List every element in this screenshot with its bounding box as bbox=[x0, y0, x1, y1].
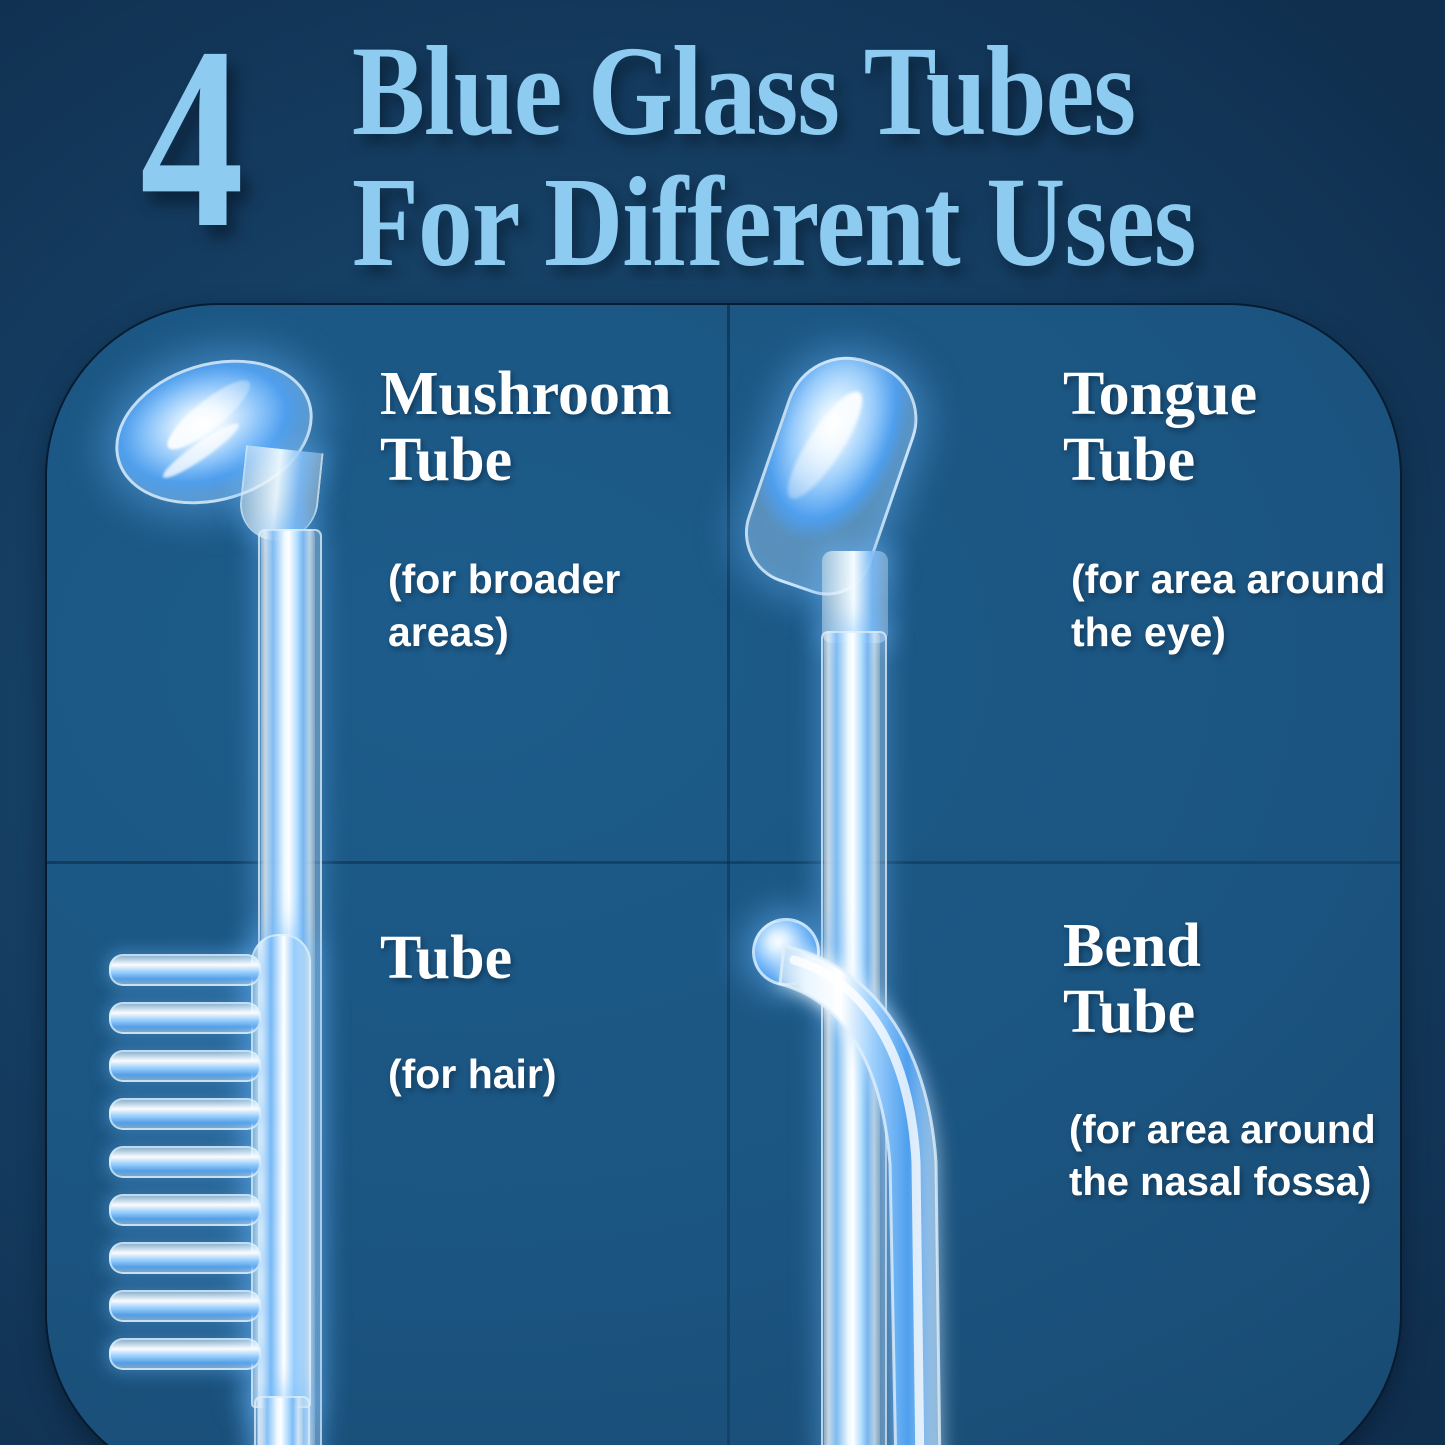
tongue-neck bbox=[822, 551, 888, 643]
comb-stem-glass bbox=[254, 1396, 310, 1445]
comb-tooth bbox=[109, 1338, 261, 1370]
tongue-subtitle: (for area around the eye) bbox=[1071, 553, 1385, 658]
bend-tube-body bbox=[750, 912, 990, 1445]
comb-tooth bbox=[109, 1050, 261, 1082]
comb-tooth bbox=[109, 1146, 261, 1178]
comb-text-block: Tube (for hair) bbox=[380, 926, 557, 1100]
comb-spine bbox=[251, 934, 311, 1408]
quadrant-comb: Tube (for hair) bbox=[47, 864, 723, 1420]
mushroom-heading: Mushroom Tube bbox=[380, 362, 672, 493]
tongue-heading: Tongue Tube bbox=[1063, 362, 1385, 493]
title-text: Blue Glass Tubes For Different Uses bbox=[352, 26, 1362, 287]
comb-tooth bbox=[109, 1242, 261, 1274]
bend-subtitle: (for area around the nasal fossa) bbox=[1069, 1105, 1376, 1207]
comb-tube-icon bbox=[99, 926, 329, 1445]
bend-text-block: Bend Tube (for area around the nasal fos… bbox=[1063, 914, 1376, 1208]
page-title: 4 Blue Glass Tubes For Different Uses bbox=[0, 0, 1445, 285]
comb-tooth bbox=[109, 1002, 261, 1034]
comb-heading: Tube bbox=[380, 926, 557, 992]
quadrant-bend: Bend Tube (for area around the nasal fos… bbox=[730, 864, 1400, 1420]
tongue-text-block: Tongue Tube (for area around the eye) bbox=[1063, 362, 1385, 658]
tongue-gloss bbox=[776, 383, 873, 507]
tube-grid-card: Mushroom Tube (for broader areas) Tongue… bbox=[47, 305, 1400, 1445]
comb-tooth bbox=[109, 1098, 261, 1130]
mushroom-subtitle: (for broader areas) bbox=[388, 553, 672, 658]
bend-heading: Bend Tube bbox=[1063, 914, 1376, 1045]
bend-tube-icon bbox=[750, 912, 990, 1445]
comb-subtitle: (for hair) bbox=[388, 1048, 557, 1100]
comb-tooth bbox=[109, 1290, 261, 1322]
comb-tooth bbox=[109, 954, 261, 986]
comb-tooth bbox=[109, 1194, 261, 1226]
quadrant-tongue: Tongue Tube (for area around the eye) bbox=[730, 305, 1400, 861]
infographic-root: 4 Blue Glass Tubes For Different Uses Mu… bbox=[0, 0, 1445, 1445]
title-line-2: For Different Uses bbox=[352, 157, 1216, 288]
mushroom-text-block: Mushroom Tube (for broader areas) bbox=[380, 362, 672, 658]
title-line-1: Blue Glass Tubes bbox=[352, 26, 1216, 157]
title-number: 4 bbox=[140, 8, 244, 268]
quadrant-mushroom: Mushroom Tube (for broader areas) bbox=[47, 305, 723, 861]
